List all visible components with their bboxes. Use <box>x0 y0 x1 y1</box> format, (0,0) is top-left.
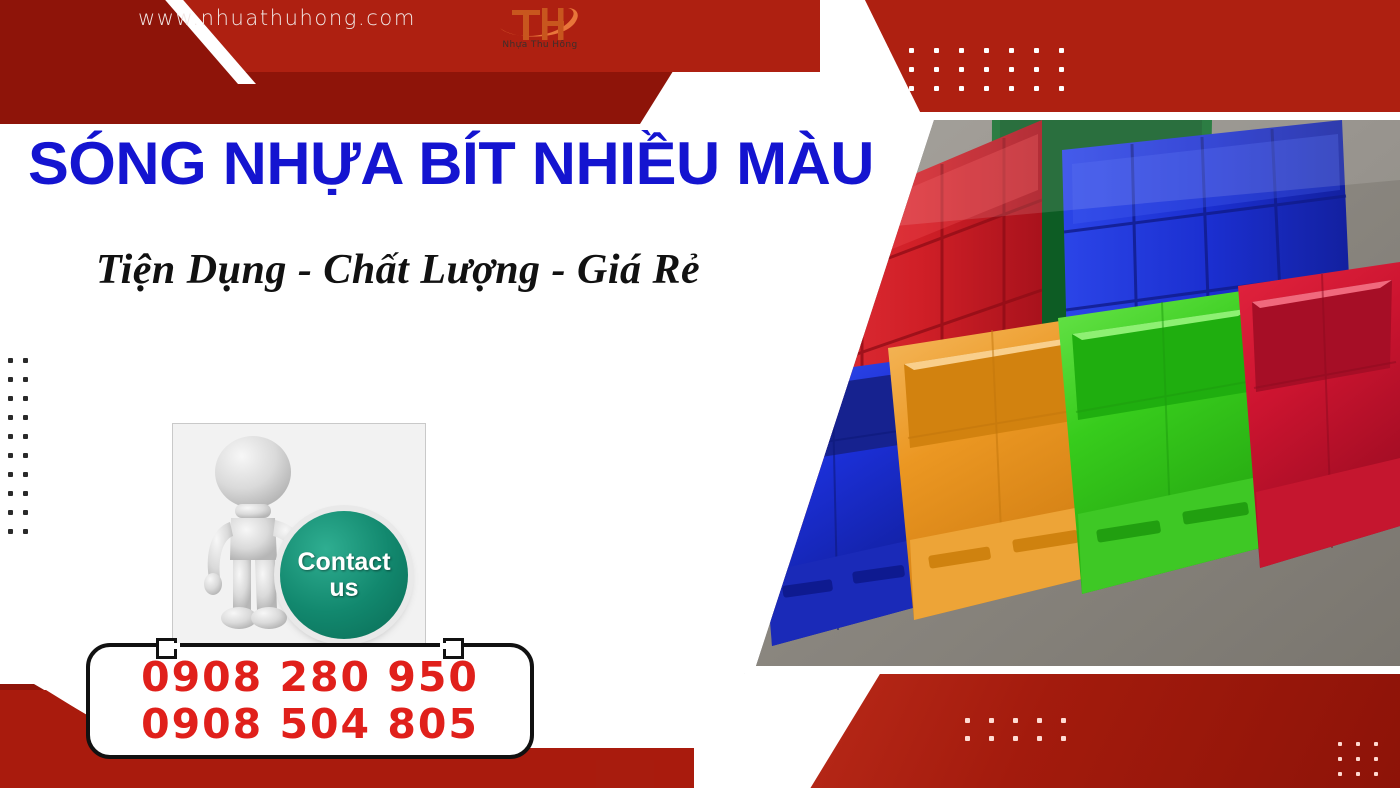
page-title: SÓNG NHỰA BÍT NHIỀU MÀU <box>28 129 885 198</box>
decorative-dot <box>1009 86 1014 91</box>
phone-number-secondary[interactable]: 0908 504 805 <box>141 701 479 748</box>
contact-us-badge[interactable]: Contact us <box>280 511 408 639</box>
decorative-dot <box>934 48 939 53</box>
decorative-dot <box>1034 86 1039 91</box>
decorative-dot <box>1034 67 1039 72</box>
decorative-dot <box>1009 48 1014 53</box>
decorative-dot <box>984 67 989 72</box>
decorative-dot <box>1356 742 1360 746</box>
decorative-dot <box>1034 48 1039 53</box>
decorative-dot <box>1338 757 1342 761</box>
decorative-dot <box>23 529 28 534</box>
decorative-dot <box>909 48 914 53</box>
decorative-dot <box>1338 772 1342 776</box>
decorative-dot <box>23 491 28 496</box>
decorative-dot <box>8 377 13 382</box>
decorative-dot <box>934 86 939 91</box>
page-subtitle: Tiện Dụng - Chất Lượng - Giá Rẻ <box>96 246 700 294</box>
decorative-dot <box>8 472 13 477</box>
dot-pattern-bottom-middle <box>965 718 1085 754</box>
decorative-dot <box>965 736 970 741</box>
decorative-dot <box>934 67 939 72</box>
decorative-dot <box>1374 757 1378 761</box>
decorative-dot <box>8 510 13 515</box>
decorative-dot <box>1374 742 1378 746</box>
decorative-dot <box>8 491 13 496</box>
decorative-dot <box>989 718 994 723</box>
dot-pattern-top-right <box>884 48 1084 105</box>
decorative-dot <box>8 358 13 363</box>
contact-badge-line1: Contact <box>297 549 390 575</box>
decorative-dot <box>1013 718 1018 723</box>
company-logo: Nhựa Thu Hồng <box>470 2 610 50</box>
decorative-dot <box>909 67 914 72</box>
decorative-dot <box>8 434 13 439</box>
phone-box-notch-cover-right <box>440 643 450 649</box>
decorative-dot <box>1338 742 1342 746</box>
phone-number-box: 0908 280 950 0908 504 805 <box>86 643 534 759</box>
contact-us-illustration: Contact us <box>172 423 426 647</box>
decorative-dot <box>1374 772 1378 776</box>
contact-badge-line2: us <box>329 575 358 601</box>
decorative-dot <box>1009 67 1014 72</box>
decorative-dot <box>909 86 914 91</box>
decorative-dot <box>884 86 889 91</box>
dot-pattern-left <box>8 358 38 548</box>
decorative-dot <box>1356 772 1360 776</box>
decorative-dot <box>959 86 964 91</box>
decorative-dot <box>23 472 28 477</box>
dot-pattern-bottom-right <box>1338 742 1392 787</box>
decorative-dot <box>23 396 28 401</box>
decorative-dot <box>8 396 13 401</box>
decorative-dot <box>1059 86 1064 91</box>
website-url-text: www.nhuathuhong.com <box>138 6 416 30</box>
decorative-dot <box>1061 736 1066 741</box>
decorative-dot <box>1059 67 1064 72</box>
decorative-dot <box>23 377 28 382</box>
decorative-dot <box>23 434 28 439</box>
decorative-dot <box>1059 48 1064 53</box>
phone-box-notch-cover-left <box>170 643 180 649</box>
decorative-dot <box>965 718 970 723</box>
decorative-dot <box>8 529 13 534</box>
decorative-dot <box>23 358 28 363</box>
decorative-dot <box>23 510 28 515</box>
decorative-dot <box>23 415 28 420</box>
decorative-dot <box>959 67 964 72</box>
promotional-banner: www.nhuathuhong.com Nhựa Thu Hồng SÓNG N… <box>0 0 1400 788</box>
decorative-dot <box>884 48 889 53</box>
decorative-dot <box>984 86 989 91</box>
decorative-dot <box>1061 718 1066 723</box>
decorative-dot <box>984 48 989 53</box>
decorative-dot <box>1013 736 1018 741</box>
decorative-dot <box>1356 757 1360 761</box>
bottom-right-small-block-shape <box>596 760 654 788</box>
decorative-dot <box>8 453 13 458</box>
decorative-dot <box>1037 736 1042 741</box>
decorative-dot <box>959 48 964 53</box>
decorative-dot <box>8 415 13 420</box>
decorative-dot <box>989 736 994 741</box>
decorative-dot <box>1037 718 1042 723</box>
phone-number-primary[interactable]: 0908 280 950 <box>141 654 479 701</box>
decorative-dot <box>884 67 889 72</box>
decorative-dot <box>23 453 28 458</box>
th-monogram-icon <box>470 2 610 42</box>
